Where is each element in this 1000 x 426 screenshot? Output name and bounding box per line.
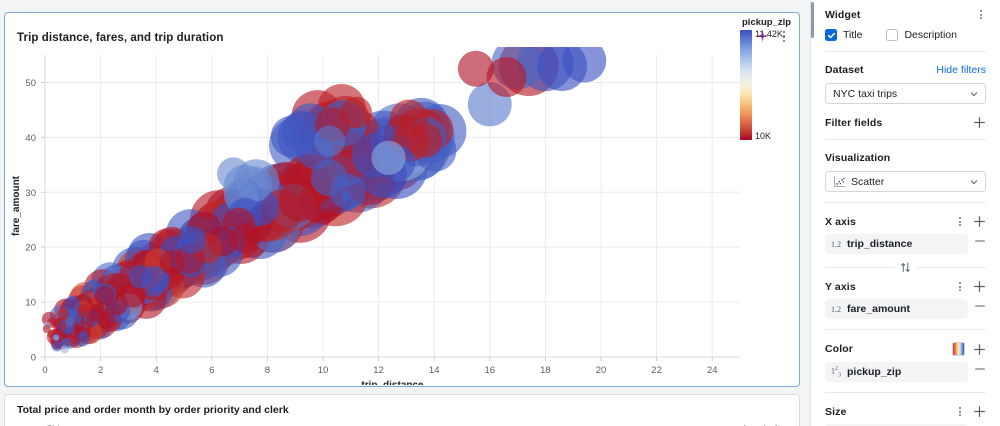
scatter-chart-icon <box>833 175 846 188</box>
filter-fields-label: Filter fields <box>825 117 882 129</box>
title-checkbox-label: Title <box>843 29 862 41</box>
y-axis-field-pill[interactable]: 1.2 fare_amount <box>825 299 968 319</box>
chevron-down-icon <box>970 90 978 98</box>
x-axis-menu-icon[interactable] <box>954 215 965 228</box>
widget-toggles: Title Description <box>811 29 1000 41</box>
svg-text:8: 8 <box>265 365 270 376</box>
svg-text:20: 20 <box>596 365 607 376</box>
section-visualization-header: Visualization <box>811 140 1000 164</box>
section-y-axis-header: Y axis <box>811 274 1000 293</box>
visualization-select[interactable]: Scatter <box>825 171 986 192</box>
svg-text:6: 6 <box>209 365 214 376</box>
svg-text:0: 0 <box>31 353 36 364</box>
section-filter-fields-header: Filter fields <box>811 104 1000 129</box>
color-scale-swatch-icon[interactable] <box>952 342 965 356</box>
description-checkbox-label: Description <box>904 29 957 41</box>
add-y-axis-field-icon[interactable] <box>973 280 986 293</box>
second-widget-card[interactable]: Total price and order month by order pri… <box>4 394 800 426</box>
field-type-integer-icon: 123 <box>831 366 841 378</box>
panel-scrollbar-thumb[interactable] <box>811 2 814 38</box>
page-title: Trip distance, fares, and trip duration <box>17 32 223 44</box>
svg-text:10: 10 <box>25 298 36 309</box>
svg-text:fare_amount: fare_amount <box>11 175 22 236</box>
hide-filters-link[interactable]: Hide filters <box>936 64 986 76</box>
svg-text:50: 50 <box>25 78 36 89</box>
visualization-label: Visualization <box>825 152 890 164</box>
widget-editor-app: Trip distance, fares, and trip duration … <box>0 0 1000 426</box>
color-field-name: pickup_zip <box>847 366 962 378</box>
y-axis-label: Y axis <box>825 281 856 293</box>
remove-y-axis-field-icon[interactable] <box>974 300 986 312</box>
add-filter-field-icon[interactable] <box>973 116 986 129</box>
scatter-widget-card[interactable]: Trip distance, fares, and trip duration … <box>4 12 800 387</box>
color-legend-title: pickup_zip <box>742 17 800 28</box>
x-axis-field-pill[interactable]: 1.2 trip_distance <box>825 234 968 254</box>
size-menu-icon[interactable] <box>954 405 965 418</box>
color-label: Color <box>825 343 853 355</box>
field-type-decimal-icon: 1.2 <box>831 305 841 314</box>
color-field-pill[interactable]: 123 pickup_zip <box>825 362 968 382</box>
visualization-select-value: Scatter <box>851 176 965 188</box>
svg-text:18: 18 <box>540 365 551 376</box>
section-x-axis-header: X axis <box>811 203 1000 228</box>
svg-text:10: 10 <box>318 365 329 376</box>
color-legend-gradient <box>740 30 752 140</box>
color-field-row: 123 pickup_zip <box>811 356 1000 382</box>
svg-text:16: 16 <box>485 365 496 376</box>
widget-section-label: Widget <box>825 9 861 21</box>
section-widget-header: Widget <box>811 0 1000 21</box>
chevron-down-icon <box>970 178 978 186</box>
size-field-row: 123 minutes_in_taxi <box>811 418 1000 426</box>
x-axis-field-name: trip_distance <box>847 238 962 250</box>
swap-axes-row <box>825 261 986 274</box>
svg-text:4: 4 <box>154 365 159 376</box>
color-legend-max: 11.42K <box>755 29 783 39</box>
section-dataset-header: Dataset Hide filters <box>811 52 1000 76</box>
add-x-axis-field-icon[interactable] <box>973 215 986 228</box>
x-axis-field-row: 1.2 trip_distance <box>811 228 1000 254</box>
svg-text:30: 30 <box>25 188 36 199</box>
remove-color-field-icon[interactable] <box>974 363 986 375</box>
dataset-select[interactable]: NYC taxi trips <box>825 83 986 104</box>
section-color-header: Color <box>811 330 1000 356</box>
svg-text:40: 40 <box>25 133 36 144</box>
svg-text:22: 22 <box>651 365 662 376</box>
title-checkbox[interactable] <box>825 29 837 41</box>
config-panel: Widget Title Description Dataset Hide fi… <box>810 0 1000 426</box>
svg-text:trip_distance: trip_distance <box>361 380 424 385</box>
field-type-decimal-icon: 1.2 <box>831 240 841 249</box>
color-legend-min: 10K <box>755 131 771 141</box>
description-checkbox[interactable] <box>886 29 898 41</box>
y-axis-menu-icon[interactable] <box>954 280 965 293</box>
dataset-select-value: NYC taxi trips <box>833 88 965 100</box>
swap-axes-icon[interactable] <box>899 261 912 274</box>
section-size-header: Size <box>811 393 1000 418</box>
size-label: Size <box>825 406 846 418</box>
add-size-field-icon[interactable] <box>973 405 986 418</box>
x-axis-label: X axis <box>825 216 856 228</box>
add-color-field-icon[interactable] <box>973 343 986 356</box>
svg-text:2: 2 <box>98 365 103 376</box>
svg-text:20: 20 <box>25 243 36 254</box>
panel-menu-icon[interactable] <box>975 8 986 21</box>
dataset-section-label: Dataset <box>825 64 864 76</box>
y-axis-field-name: fare_amount <box>847 303 962 315</box>
svg-text:0: 0 <box>42 365 47 376</box>
panel-scrollbar[interactable] <box>811 0 814 426</box>
dashboard-canvas: Trip distance, fares, and trip duration … <box>0 0 810 426</box>
svg-text:12: 12 <box>373 365 384 376</box>
remove-x-axis-field-icon[interactable] <box>974 235 986 247</box>
color-legend: pickup_zip 11.42K 10K <box>740 17 800 140</box>
y-axis-field-row: 1.2 fare_amount <box>811 293 1000 319</box>
svg-text:24: 24 <box>707 365 718 376</box>
scatter-plot[interactable]: 01020304050024681012141618202224trip_dis… <box>5 47 799 386</box>
second-widget-title: Total price and order month by order pri… <box>17 404 289 416</box>
svg-text:14: 14 <box>429 365 440 376</box>
